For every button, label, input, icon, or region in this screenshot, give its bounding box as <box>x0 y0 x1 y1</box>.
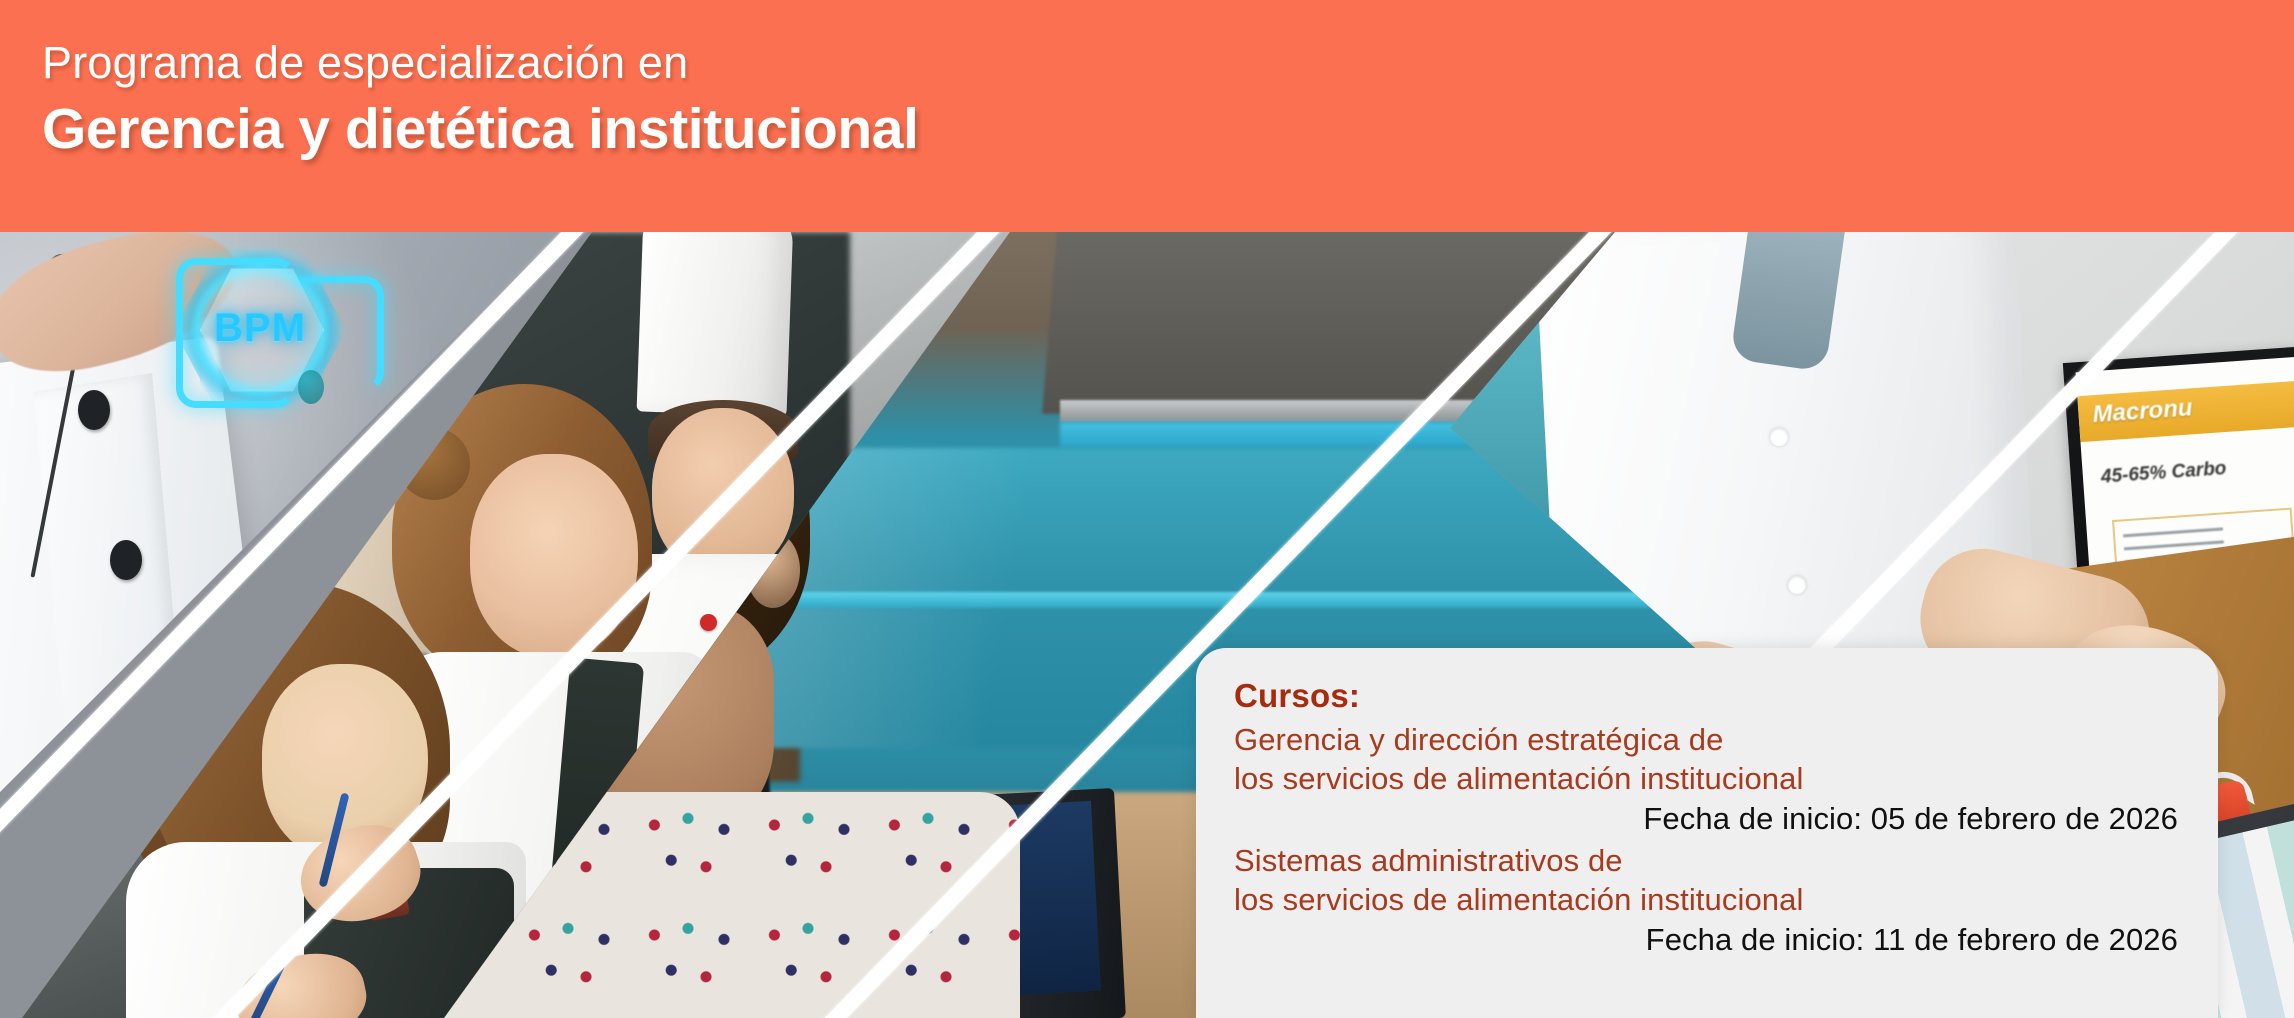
course-name-line-2: los servicios de alimentación institucio… <box>1234 880 2182 919</box>
course-name-line-1: Sistemas administrativos de <box>1234 841 2182 880</box>
program-banner: Programa de especialización en Gerencia … <box>0 0 2294 1018</box>
coat-button <box>110 540 142 580</box>
course-item: Gerencia y dirección estratégica de los … <box>1234 720 2182 839</box>
banner-header: Programa de especialización en Gerencia … <box>0 0 2294 232</box>
courses-card: Cursos: Gerencia y dirección estratégica… <box>1196 648 2218 1018</box>
coat-button <box>1770 428 1788 446</box>
course-item: Sistemas administrativos de los servicio… <box>1234 841 2182 960</box>
coat-button <box>78 390 110 430</box>
bpm-hologram-badge: BPM <box>170 240 350 420</box>
program-kicker: Programa de especialización en <box>42 34 919 92</box>
bpm-label: BPM <box>170 306 350 351</box>
course-start-date: Fecha de inicio: 11 de febrero de 2026 <box>1234 919 2182 960</box>
poster-subtitle: 45-65% Carbo <box>2100 451 2294 489</box>
course-start-date: Fecha de inicio: 05 de febrero de 2026 <box>1234 798 2182 839</box>
chef-hat <box>637 232 794 417</box>
instructor-hair-bun <box>398 428 470 500</box>
course-name-line-2: los servicios de alimentación institucio… <box>1234 759 2182 798</box>
chef-jacket-button <box>700 614 717 631</box>
coat-button <box>1788 576 1806 594</box>
course-name-line-1: Gerencia y dirección estratégica de <box>1234 720 2182 759</box>
program-title: Gerencia y dietética institucional <box>42 92 919 166</box>
courses-heading: Cursos: <box>1234 674 2182 718</box>
teal-accent-dot-icon <box>298 370 324 404</box>
header-text-group: Programa de especialización en Gerencia … <box>42 34 919 166</box>
